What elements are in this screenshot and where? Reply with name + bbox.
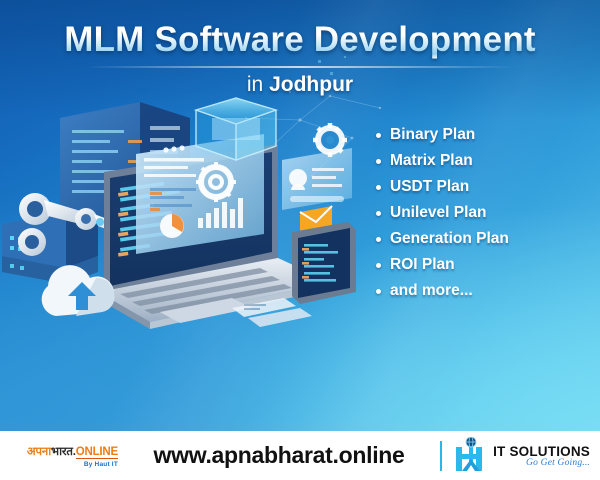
list-item: USDT Plan	[376, 174, 509, 200]
page-title: MLM Software Development	[0, 22, 600, 59]
title-divider	[85, 66, 515, 68]
list-item: Generation Plan	[376, 226, 509, 252]
subtitle-location: Jodhpur	[269, 73, 353, 96]
hero-background: MLM Software Development in Jodhpur Bina…	[0, 0, 600, 431]
bullet-icon	[376, 237, 381, 242]
list-item: Matrix Plan	[376, 148, 509, 174]
plan-label: Binary Plan	[390, 126, 475, 144]
brand-apna: अपना	[27, 446, 51, 458]
bullet-icon	[376, 159, 381, 164]
brand-wordmark: अपनाभारत.ONLINE	[27, 444, 118, 459]
list-item: and more...	[376, 278, 509, 304]
footer-divider	[440, 441, 442, 471]
list-item: ROI Plan	[376, 252, 509, 278]
bullet-icon	[376, 211, 381, 216]
it-solutions-tagline: Go Get Going...	[493, 458, 590, 468]
plan-label: Unilevel Plan	[390, 204, 486, 222]
bullet-icon	[376, 185, 381, 190]
list-item: Unilevel Plan	[376, 200, 509, 226]
h-monogram-globe-icon	[454, 437, 490, 475]
bullet-icon	[376, 133, 381, 138]
brand-bharat: भारत	[51, 446, 73, 458]
website-url[interactable]: www.apnabharat.online	[118, 442, 440, 469]
plan-label: ROI Plan	[390, 256, 455, 274]
tech-illustration	[0, 96, 372, 336]
profile-card-illustration	[282, 148, 352, 210]
plan-label: Matrix Plan	[390, 152, 473, 170]
footer-bar: अपनाभारत.ONLINE By Haut IT www.apnabhara…	[0, 431, 600, 480]
tablet-illustration	[292, 222, 356, 304]
banner-title-block: MLM Software Development in Jodhpur	[0, 22, 600, 97]
apnabharat-logo[interactable]: अपनाभारत.ONLINE By Haut IT	[0, 444, 118, 468]
plan-label: Generation Plan	[390, 230, 509, 248]
pie-chart-illustration	[160, 214, 184, 238]
subtitle-lead: in	[247, 73, 263, 96]
bullet-icon	[376, 289, 381, 294]
it-solutions-text: IT SOLUTIONS Go Get Going...	[493, 444, 590, 468]
page-subtitle: in Jodhpur	[0, 73, 600, 97]
bullet-icon	[376, 263, 381, 268]
gear-icon-large	[313, 123, 347, 157]
it-solutions-logo[interactable]: IT SOLUTIONS Go Get Going...	[454, 437, 600, 475]
it-solutions-name: IT SOLUTIONS	[493, 444, 590, 459]
list-item: Binary Plan	[376, 122, 509, 148]
promo-banner: MLM Software Development in Jodhpur Bina…	[0, 0, 600, 480]
brand-online: ONLINE	[76, 446, 118, 459]
brand-byline: By Haut IT	[84, 461, 118, 468]
plan-list: Binary Plan Matrix Plan USDT Plan Unilev…	[376, 122, 509, 304]
plan-label: USDT Plan	[390, 178, 469, 196]
plan-label: and more...	[390, 282, 473, 300]
cube-illustration	[196, 98, 276, 160]
